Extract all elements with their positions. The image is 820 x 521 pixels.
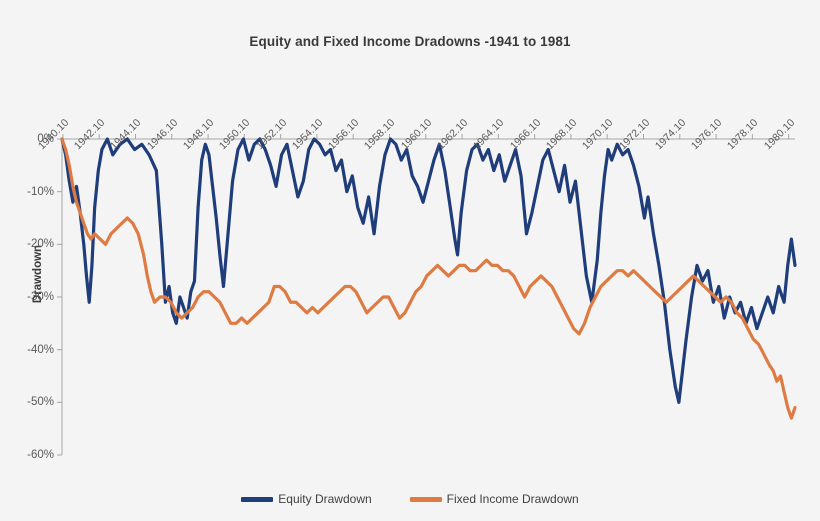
series-line-equity bbox=[62, 139, 795, 402]
y-tick-label: -30% bbox=[8, 291, 54, 303]
legend-label: Fixed Income Drawdown bbox=[447, 492, 579, 506]
y-tick-label: -50% bbox=[8, 396, 54, 408]
legend-item[interactable]: Fixed Income Drawdown bbox=[410, 492, 579, 506]
plot-area bbox=[0, 0, 820, 521]
y-axis-tick-labels: 0%-10%-20%-30%-40%-50%-60% bbox=[8, 0, 54, 521]
y-tick-label: -20% bbox=[8, 238, 54, 250]
drawdown-chart: Equity and Fixed Income Dradowns -1941 t… bbox=[0, 0, 820, 521]
chart-legend: Equity DrawdownFixed Income Drawdown bbox=[0, 492, 820, 506]
series-layer bbox=[62, 139, 795, 418]
y-tick-label: -40% bbox=[8, 344, 54, 356]
legend-item[interactable]: Equity Drawdown bbox=[241, 492, 371, 506]
chart-title: Equity and Fixed Income Dradowns -1941 t… bbox=[0, 34, 820, 49]
legend-swatch-icon bbox=[241, 497, 273, 502]
y-tick-label: -60% bbox=[8, 449, 54, 461]
legend-label: Equity Drawdown bbox=[278, 492, 371, 506]
legend-swatch-icon bbox=[410, 497, 442, 502]
